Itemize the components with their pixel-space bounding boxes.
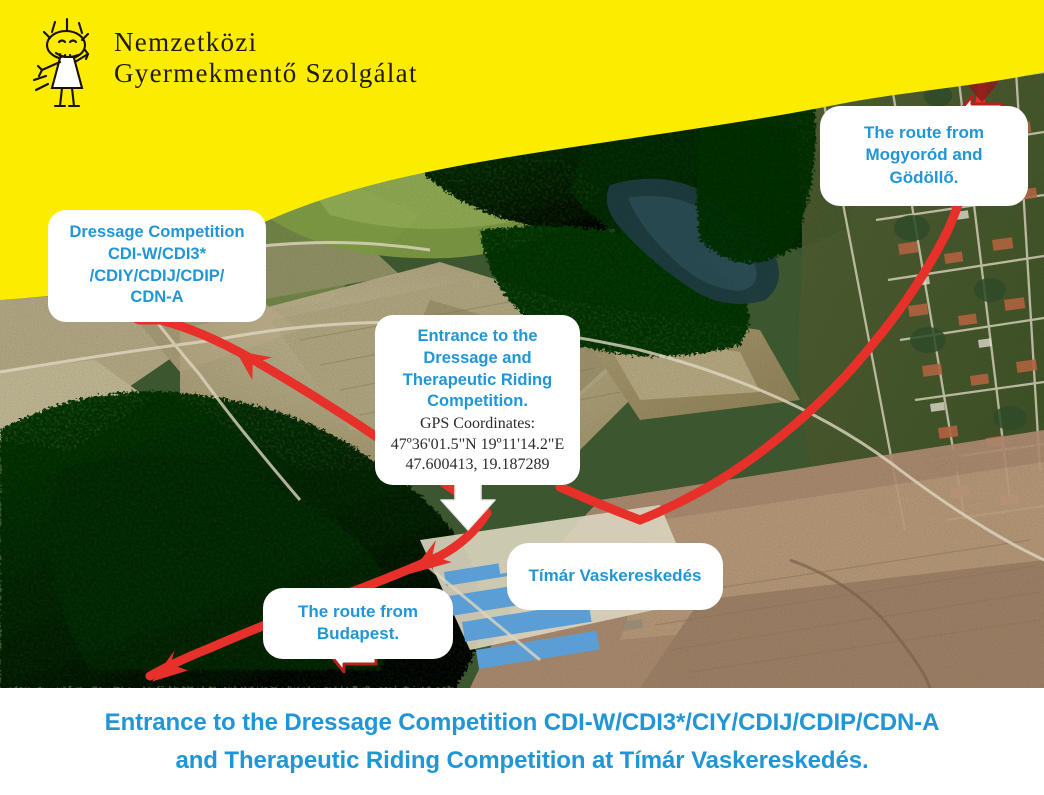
callout-mogyorod-line2: Mogyoród and [865,145,982,164]
caption-line-2: and Therapeutic Riding Competition at Tí… [175,742,868,779]
child-figure-logo-icon [22,14,108,110]
logo-line-1: Nemzetközi [114,28,418,56]
callout-entrance-line2: Dressage and [423,349,531,367]
callout-timar-vaskereskedes: Tímár Vaskereskedés [507,543,723,610]
bottom-caption: Entrance to the Dressage Competition CDI… [0,688,1044,795]
logo-text-block: Nemzetközi Gyermekmentő Szolgálat [114,28,418,88]
callout-dressage-competition: Dressage Competition CDI-W/CDI3* /CDIY/C… [48,210,266,322]
organization-logo: Nemzetközi Gyermekmentő Szolgálat [22,14,442,110]
callout-mogyorod-line1: The route from [864,123,984,142]
callout-entrance-line3: Therapeutic Riding [403,371,552,389]
callout-mogyorod-line3: Gödöllő. [890,168,959,187]
gps-decimal: 47.600413, 19.187289 [379,456,576,475]
callout-entrance-gps: Entrance to the Dressage and Therapeutic… [375,315,580,485]
svg-text:A: A [975,57,989,78]
caption-line-1: Entrance to the Dressage Competition CDI… [105,704,940,741]
callout-entrance-line4: Competition. [427,392,528,410]
gps-dms: 47º36'01.5"N 19º11'14.2"E [379,436,576,455]
callout-entrance-line1: Entrance to the [417,327,537,345]
route-map-page: A [0,0,1044,795]
logo-line-2: Gyermekmentő Szolgálat [114,59,418,87]
callout-dressage-line4: CDN-A [130,288,183,306]
gps-label: GPS Coordinates: [379,415,576,434]
callout-dressage-line1: Dressage Competition [69,223,244,241]
callout-timar-line1: Tímár Vaskereskedés [529,566,702,585]
callout-budapest-line2: Budapest. [317,624,399,643]
callout-dressage-line3: /CDIY/CDIJ/CDIP/ [90,267,225,285]
callout-dressage-line2: CDI-W/CDI3* [108,245,206,263]
callout-route-budapest: The route from Budapest. [263,588,453,659]
callout-budapest-line1: The route from [298,602,418,621]
callout-route-mogyorod: The route from Mogyoród and Gödöllő. [820,106,1028,206]
